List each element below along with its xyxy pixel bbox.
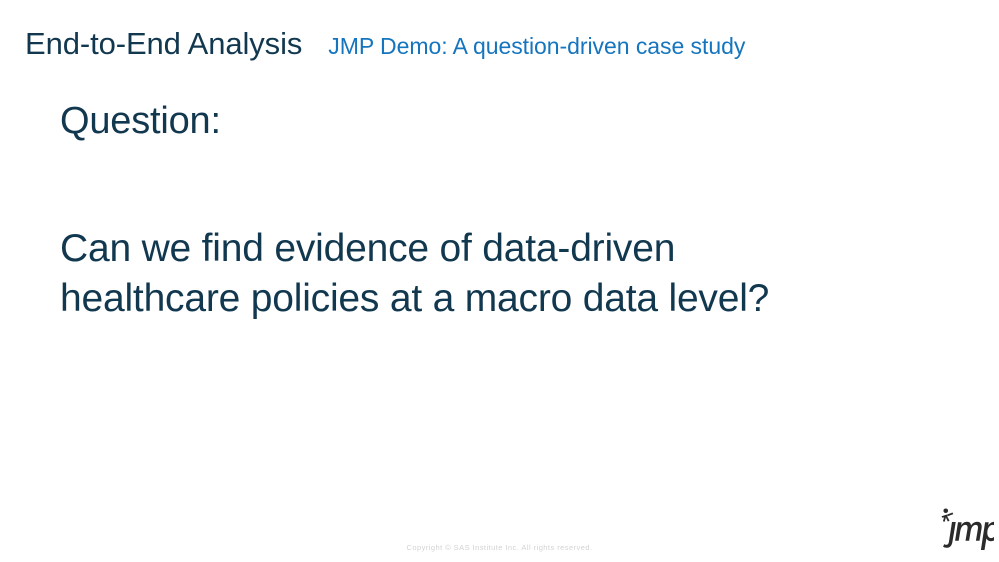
question-heading: Question: [60, 100, 221, 143]
slide-header: End-to-End Analysis JMP Demo: A question… [25, 28, 745, 59]
page-title: End-to-End Analysis [25, 28, 302, 59]
question-line-2: healthcare policies at a macro data leve… [60, 274, 920, 324]
page-subtitle: JMP Demo: A question-driven case study [328, 35, 745, 58]
question-body: Can we find evidence of data-driven heal… [60, 224, 920, 324]
question-line-1: Can we find evidence of data-driven [60, 224, 920, 274]
copyright-notice: Copyright © SAS Institute Inc. All right… [0, 543, 999, 552]
jmp-logo [932, 505, 994, 553]
slide-canvas: End-to-End Analysis JMP Demo: A question… [0, 0, 999, 562]
